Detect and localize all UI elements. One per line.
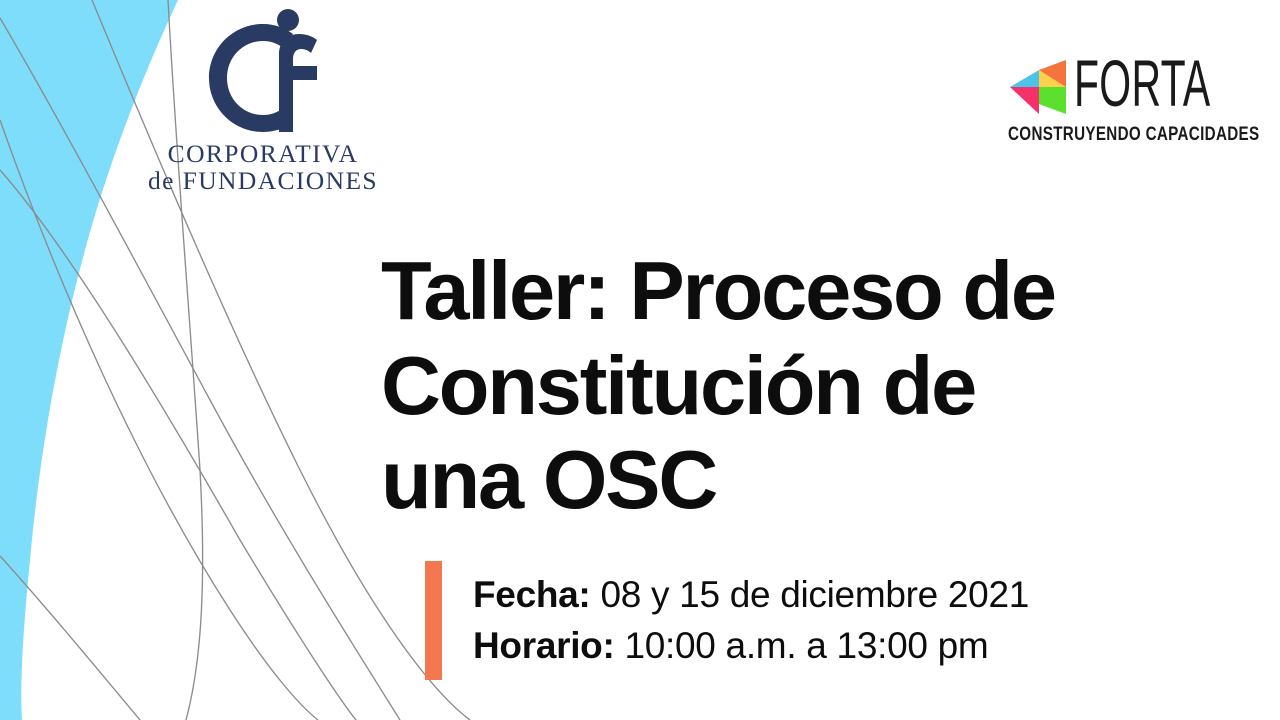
arc-line-6 xyxy=(0,120,318,720)
detail-value-horario: 10:00 a.m. a 13:00 pm xyxy=(615,625,989,666)
arc-line-4 xyxy=(0,170,356,720)
cf-logo-line-2: de FUNDACIONES xyxy=(148,167,378,194)
cf-logo-line-1: CORPORATIVA xyxy=(168,140,359,167)
forta-tagline: CONSTRUYENDO CAPACIDADES xyxy=(1008,124,1181,146)
detail-row-horario: Horario: 10:00 a.m. a 13:00 pm xyxy=(473,621,1029,671)
presentation-slide: CORPORATIVA de FUNDACIONES FORTA CONSTRU… xyxy=(0,0,1280,720)
title-line-3: una OSC xyxy=(381,433,1191,528)
event-details-text: Fecha: 08 y 15 de diciembre 2021 Horario… xyxy=(473,561,1029,680)
event-details: Fecha: 08 y 15 de diciembre 2021 Horario… xyxy=(425,561,1029,680)
detail-row-fecha: Fecha: 08 y 15 de diciembre 2021 xyxy=(473,570,1029,620)
forta-logo-top-row: FORTA xyxy=(1008,56,1224,120)
title-line-2: Constitución de xyxy=(381,339,1191,434)
triangle-green xyxy=(1039,87,1066,114)
forta-triangles-icon xyxy=(1008,58,1068,116)
triangle-magenta xyxy=(1010,87,1039,114)
detail-label-horario: Horario: xyxy=(473,625,615,666)
cf-monogram-icon xyxy=(193,8,333,136)
forta-logo: FORTA CONSTRUYENDO CAPACIDADES xyxy=(1008,56,1224,148)
forta-wordmark: FORTA xyxy=(1074,56,1210,110)
cf-logo: CORPORATIVA de FUNDACIONES xyxy=(152,8,374,208)
slide-title: Taller: Proceso de Constitución de una O… xyxy=(381,244,1191,528)
arc-line-5 xyxy=(0,556,140,720)
accent-bar xyxy=(425,561,442,680)
title-line-1: Taller: Proceso de xyxy=(381,244,1191,339)
detail-label-fecha: Fecha: xyxy=(473,574,590,615)
detail-value-fecha: 08 y 15 de diciembre 2021 xyxy=(590,574,1029,615)
